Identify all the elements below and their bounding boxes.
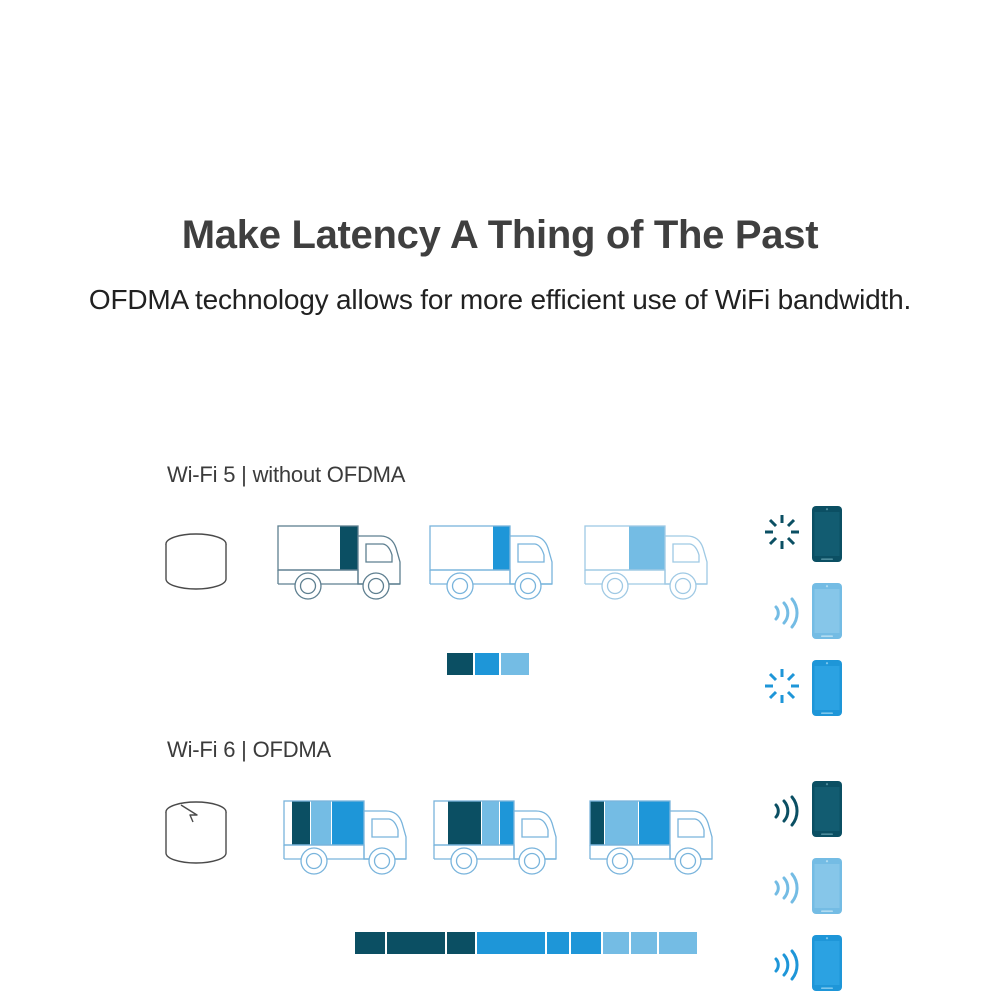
device-wifi5-2 bbox=[756, 579, 866, 656]
section-label-wifi6: Wi-Fi 6 | OFDMA bbox=[167, 737, 331, 763]
bandwidth-segment bbox=[547, 932, 569, 954]
scene-wifi6 bbox=[0, 777, 1000, 907]
bandwidth-segment bbox=[603, 932, 629, 954]
bandwidth-segment bbox=[477, 932, 545, 954]
loading-spinner-icon bbox=[762, 512, 802, 557]
bandwidth-segment bbox=[355, 932, 385, 954]
bandwidth-segment bbox=[447, 932, 475, 954]
device-wifi5-3 bbox=[756, 656, 866, 733]
wifi-signal-icon bbox=[762, 589, 802, 642]
devices-wifi5 bbox=[756, 502, 866, 733]
loading-spinner-icon bbox=[762, 666, 802, 711]
page-subtitle: OFDMA technology allows for more efficie… bbox=[80, 280, 920, 320]
bandwidth-segment bbox=[659, 932, 697, 954]
bandwidth-segment bbox=[475, 653, 499, 675]
truck-wifi6-2 bbox=[432, 797, 568, 877]
truck-wifi6-1 bbox=[282, 797, 418, 877]
phone-icon bbox=[812, 583, 842, 644]
section-label-wifi5: Wi-Fi 5 | without OFDMA bbox=[167, 462, 405, 488]
phone-icon bbox=[812, 935, 842, 996]
bandwidth-bar-wifi5 bbox=[447, 653, 529, 675]
truck-wifi5-1 bbox=[276, 522, 412, 602]
bandwidth-segment bbox=[571, 932, 601, 954]
bandwidth-segment bbox=[447, 653, 473, 675]
phone-icon bbox=[812, 858, 842, 919]
bandwidth-segment bbox=[501, 653, 529, 675]
device-wifi6-2 bbox=[756, 854, 866, 931]
page-title: Make Latency A Thing of The Past bbox=[0, 212, 1000, 258]
device-wifi5-1 bbox=[756, 502, 866, 579]
bandwidth-segment bbox=[387, 932, 445, 954]
bandwidth-segment bbox=[631, 932, 657, 954]
truck-wifi5-2 bbox=[428, 522, 564, 602]
wifi-signal-icon bbox=[762, 864, 802, 917]
wifi-signal-icon bbox=[762, 787, 802, 840]
devices-wifi6 bbox=[756, 777, 866, 1008]
device-wifi6-1 bbox=[756, 777, 866, 854]
header: Make Latency A Thing of The Past OFDMA t… bbox=[0, 212, 1000, 320]
router-cylinder-icon bbox=[159, 527, 233, 606]
phone-icon bbox=[812, 660, 842, 721]
bandwidth-bar-wifi6 bbox=[355, 932, 697, 954]
truck-wifi5-3 bbox=[583, 522, 719, 602]
device-wifi6-3 bbox=[756, 931, 866, 1008]
phone-icon bbox=[812, 506, 842, 567]
phone-icon bbox=[812, 781, 842, 842]
truck-wifi6-3 bbox=[588, 797, 724, 877]
router-cylinder-icon bbox=[159, 795, 233, 882]
wifi-signal-icon bbox=[762, 941, 802, 994]
scene-wifi5 bbox=[0, 502, 1000, 632]
